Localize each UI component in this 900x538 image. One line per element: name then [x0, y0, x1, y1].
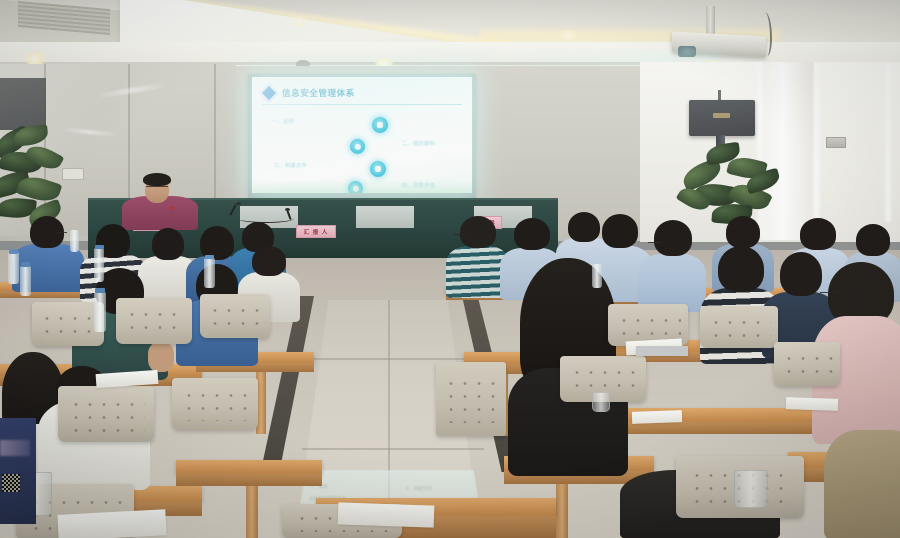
person-hair: [718, 246, 764, 292]
chair-perforations: [180, 387, 251, 420]
slide-node-label: 二、组织架构: [402, 141, 435, 149]
water-bottle[interactable]: [592, 264, 602, 288]
water-bottle[interactable]: [20, 266, 31, 296]
paper-handout[interactable]: [57, 509, 166, 538]
qr-code-icon: [2, 474, 20, 492]
speaker-at-head-table: [118, 174, 202, 224]
slide-node-icon: [372, 117, 388, 133]
student-desk: [176, 460, 322, 474]
water-bottle[interactable]: [94, 248, 104, 282]
chair-perforations: [780, 350, 834, 378]
wall-light-strip: [812, 62, 821, 242]
person-arm: [148, 342, 174, 372]
audience-member: [824, 430, 900, 538]
desk-microphone-head: [236, 202, 241, 205]
paper-handout[interactable]: [338, 502, 435, 527]
person-hair: [252, 246, 286, 276]
speaker-brand-logo: [713, 113, 730, 118]
conference-room-photo: 信息安全管理体系 一、总则 二、组织架构 三、制度文件 四、风险评估 一、总则 …: [0, 0, 900, 538]
person-glasses-icon: [57, 232, 67, 234]
audience-member: [638, 220, 706, 308]
floor-tile-line: [312, 358, 474, 360]
chair-perforations: [707, 314, 771, 341]
water-bottle[interactable]: [94, 292, 106, 332]
slide-node-icon: [370, 161, 386, 177]
floor-tile-line: [302, 448, 484, 450]
plastic-cup[interactable]: [592, 392, 610, 412]
chair-perforations: [206, 302, 263, 330]
recessed-downlight: [288, 16, 310, 26]
plastic-cup[interactable]: [734, 470, 768, 508]
slide-divider: [262, 104, 462, 105]
desk-leg: [246, 486, 258, 538]
chair-perforations: [38, 310, 97, 338]
student-desk-front: [620, 422, 820, 434]
projection-screen[interactable]: 信息安全管理体系 一、总则 二、组织架构 三、制度文件 四、风险评估: [252, 77, 472, 193]
desk-leg: [556, 484, 568, 538]
person-hair: [654, 220, 692, 256]
projector-mount-pole: [706, 6, 715, 36]
chair-perforations: [123, 306, 185, 335]
slide-footer-band: [252, 179, 472, 193]
bottle-cap: [21, 262, 30, 267]
wall-light-strip: [884, 62, 892, 222]
presenter-glasses-icon: [146, 186, 168, 188]
chair-back: [116, 298, 192, 344]
person-glasses-icon: [820, 292, 838, 294]
chair-perforations: [615, 312, 681, 339]
paper-handout[interactable]: [636, 346, 688, 356]
student-desk-front: [176, 474, 322, 486]
paper-handout[interactable]: [632, 410, 682, 424]
projector-lens: [678, 46, 696, 57]
chair-perforations: [67, 396, 146, 432]
bottle-cap: [9, 249, 18, 254]
wall-panel-display: [0, 78, 46, 130]
name-placard: 汇 报 人: [296, 225, 336, 238]
slide-node-label: 三、制度文件: [274, 163, 307, 171]
chair-perforations: [568, 364, 639, 393]
bottle-cap: [205, 255, 214, 259]
presenter-hair: [143, 173, 171, 186]
slide-title: 信息安全管理体系: [282, 87, 355, 99]
wall-mounted-loudspeaker: [689, 100, 755, 136]
person-hair: [514, 218, 550, 250]
recessed-downlight: [558, 30, 580, 40]
chair-back: [58, 386, 154, 442]
person-hair: [602, 214, 638, 248]
bag-print-text: [0, 440, 30, 456]
person-glasses-icon: [454, 234, 466, 236]
slide-node-icon: [350, 139, 365, 154]
paper-handout[interactable]: [786, 397, 838, 411]
chair-back: [172, 378, 258, 430]
water-bottle[interactable]: [204, 258, 215, 288]
person-torso: [824, 430, 900, 538]
water-bottle[interactable]: [70, 230, 79, 252]
chair-back: [436, 362, 506, 436]
person-hair: [800, 218, 836, 250]
bottle-cap: [95, 245, 104, 249]
reflection-text: 三、制度文件: [405, 486, 433, 492]
chair-back: [774, 342, 840, 386]
bottle-cap: [95, 288, 105, 293]
lapel-pin-icon: [169, 206, 173, 210]
person-hair: [152, 228, 184, 260]
wall-panel-seam: [214, 64, 216, 202]
person-hair: [726, 216, 760, 248]
water-bottle[interactable]: [8, 252, 19, 284]
chair-back: [200, 294, 270, 338]
person-hair: [856, 224, 890, 256]
head-table-panel: [356, 206, 414, 228]
slide-header: 信息安全管理体系: [262, 84, 464, 101]
blue-diamond-logo-icon: [259, 83, 279, 103]
room-sign-plaque: [826, 137, 846, 148]
chair-perforations: [442, 375, 499, 422]
conference-tote-bag[interactable]: [0, 418, 36, 524]
person-glasses-icon: [648, 242, 662, 244]
chair-back: [700, 306, 778, 348]
placard-text: 汇 报 人: [304, 228, 329, 236]
slide-node-label: 一、总则: [272, 119, 294, 127]
desk-microphone-head: [285, 208, 290, 211]
person-hair: [460, 216, 496, 248]
